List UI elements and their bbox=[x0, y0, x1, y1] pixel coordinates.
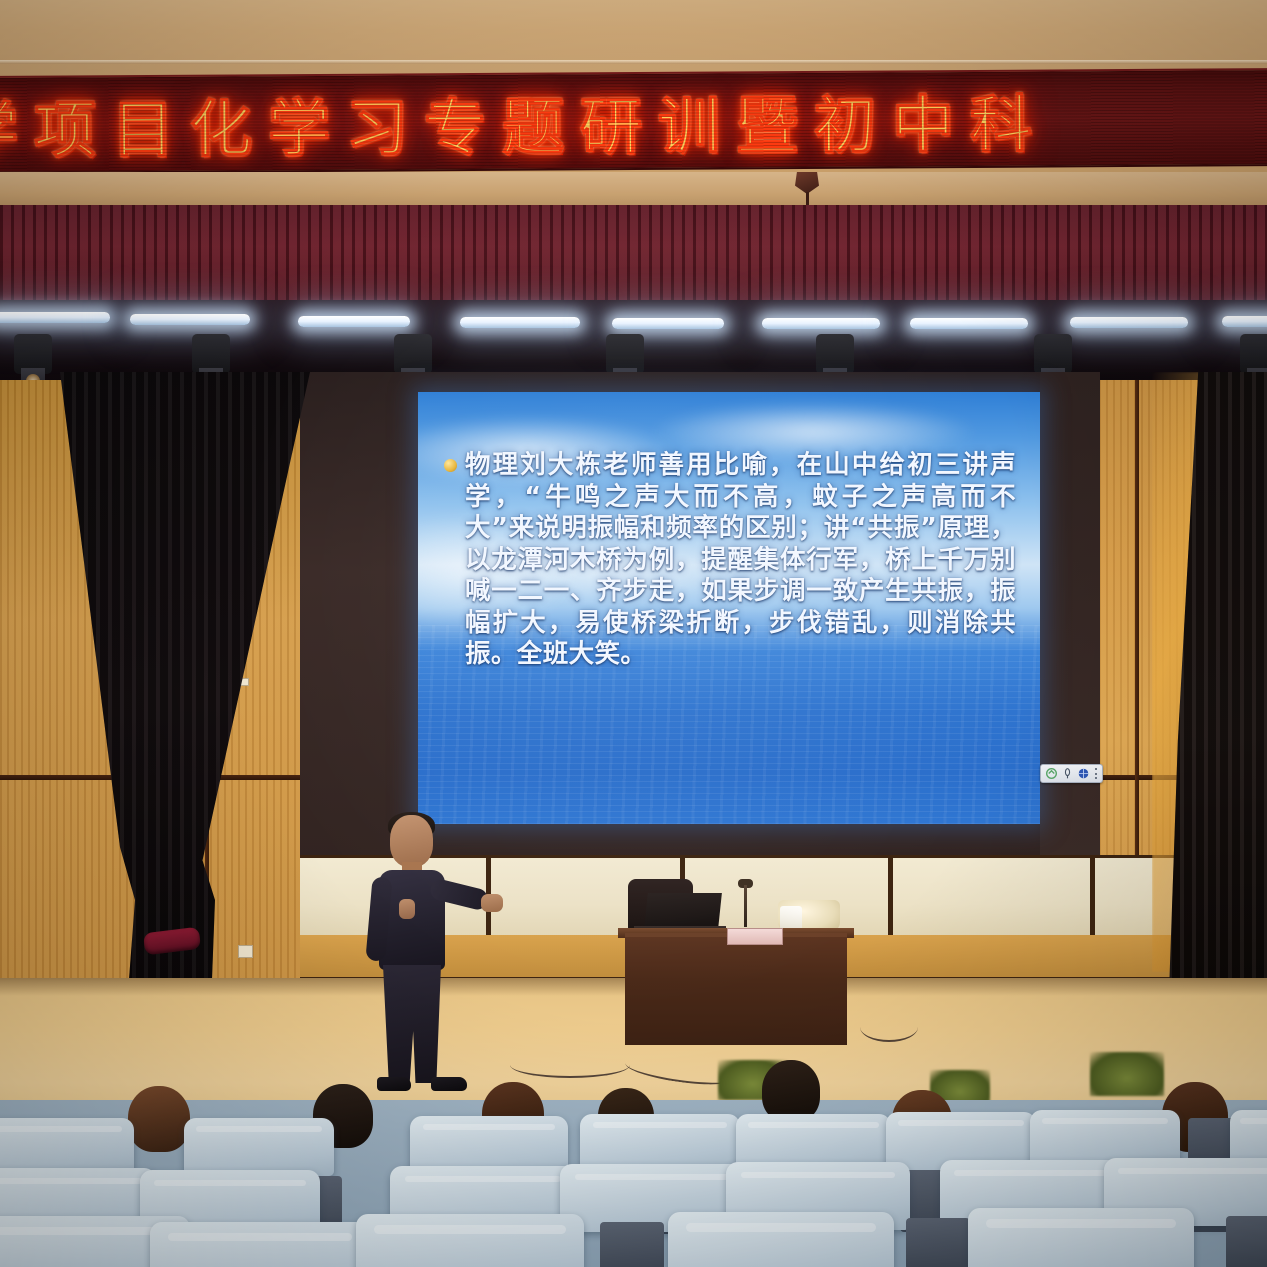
fluorescent-tube bbox=[298, 316, 410, 327]
presenter-head bbox=[390, 815, 433, 867]
led-banner-text: 学项目化学习专题研训暨初中科 bbox=[0, 74, 1048, 171]
presenter-person bbox=[355, 815, 505, 1097]
fluorescent-tube bbox=[0, 312, 110, 323]
screen-backdrop-right bbox=[1040, 372, 1100, 872]
audience-head bbox=[762, 1060, 820, 1122]
audience-head bbox=[128, 1086, 190, 1152]
decorative-plant bbox=[1090, 1052, 1164, 1096]
presenter-left-hand bbox=[399, 899, 415, 919]
pointer-icon[interactable] bbox=[1062, 768, 1073, 779]
wall-outlet bbox=[238, 945, 253, 958]
presenter-legs bbox=[383, 965, 441, 1083]
slide-text-block: 物理刘大栋老师善用比喻，在山中给初三讲声学，“牛鸣之声大而不高，蚊子之声高而不大… bbox=[444, 450, 1016, 671]
bullet-dot-icon bbox=[444, 459, 457, 472]
audience-seat bbox=[184, 1118, 334, 1176]
floor-cable bbox=[860, 1012, 918, 1042]
presenter-right-hand bbox=[481, 894, 503, 912]
fluorescent-tube bbox=[460, 317, 580, 328]
wainscot-divider bbox=[1090, 858, 1095, 938]
audience-seat bbox=[356, 1214, 584, 1267]
pen-annotation-icon[interactable] bbox=[1046, 768, 1057, 779]
fluorescent-tube bbox=[762, 318, 880, 329]
projection-screen: 物理刘大栋老师善用比喻，在山中给初三讲声学，“牛鸣之声大而不高，蚊子之声高而不大… bbox=[418, 392, 1040, 824]
ceiling bbox=[0, 0, 1267, 78]
slide-paragraph: 物理刘大栋老师善用比喻，在山中给初三讲声学，“牛鸣之声大而不高，蚊子之声高而不大… bbox=[465, 450, 1016, 671]
security-camera-mount bbox=[806, 192, 809, 205]
ceiling-seam bbox=[0, 60, 1267, 64]
floor-cable bbox=[510, 1052, 630, 1078]
presenter-shoe bbox=[377, 1077, 411, 1091]
slide-navigation-icon[interactable] bbox=[1078, 768, 1089, 779]
audience-seat bbox=[150, 1222, 370, 1267]
fluorescent-tube bbox=[1222, 316, 1267, 327]
wainscot-divider bbox=[888, 858, 893, 938]
speaker-podium bbox=[625, 933, 847, 1045]
fluorescent-tube bbox=[130, 314, 250, 325]
name-card bbox=[727, 928, 783, 945]
more-options-icon[interactable] bbox=[1094, 768, 1097, 779]
audience-seat bbox=[968, 1208, 1194, 1267]
fluorescent-tube bbox=[910, 318, 1028, 329]
presenter-shoe bbox=[431, 1077, 467, 1091]
microphone-stand bbox=[744, 885, 747, 927]
led-banner: 学项目化学习专题研训暨初中科 bbox=[0, 68, 1267, 174]
seat-frame bbox=[600, 1222, 664, 1267]
audience-seat bbox=[668, 1212, 894, 1267]
seat-frame bbox=[906, 1218, 970, 1267]
laptop bbox=[644, 893, 722, 929]
seat-frame bbox=[1226, 1216, 1267, 1267]
fluorescent-tube bbox=[1070, 317, 1188, 328]
photo-scene: 学项目化学习专题研训暨初中科 bbox=[0, 0, 1267, 1267]
fluorescent-tube bbox=[612, 318, 724, 329]
presenter-toolbar[interactable] bbox=[1040, 764, 1103, 783]
